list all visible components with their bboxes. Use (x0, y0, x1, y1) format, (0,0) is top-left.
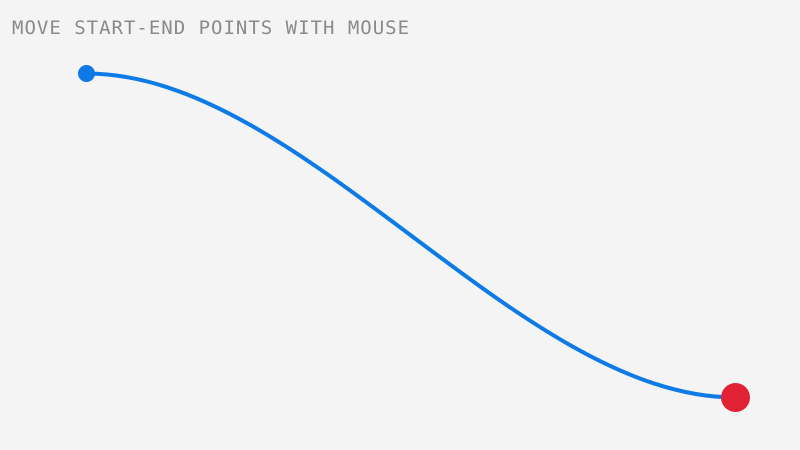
bezier-canvas[interactable] (0, 0, 800, 450)
page-title: Move start-end points with mouse (12, 16, 410, 40)
end-point-handle[interactable] (721, 383, 750, 412)
start-point-handle[interactable] (78, 65, 95, 82)
canvas-stage[interactable]: Move start-end points with mouse (0, 0, 800, 450)
